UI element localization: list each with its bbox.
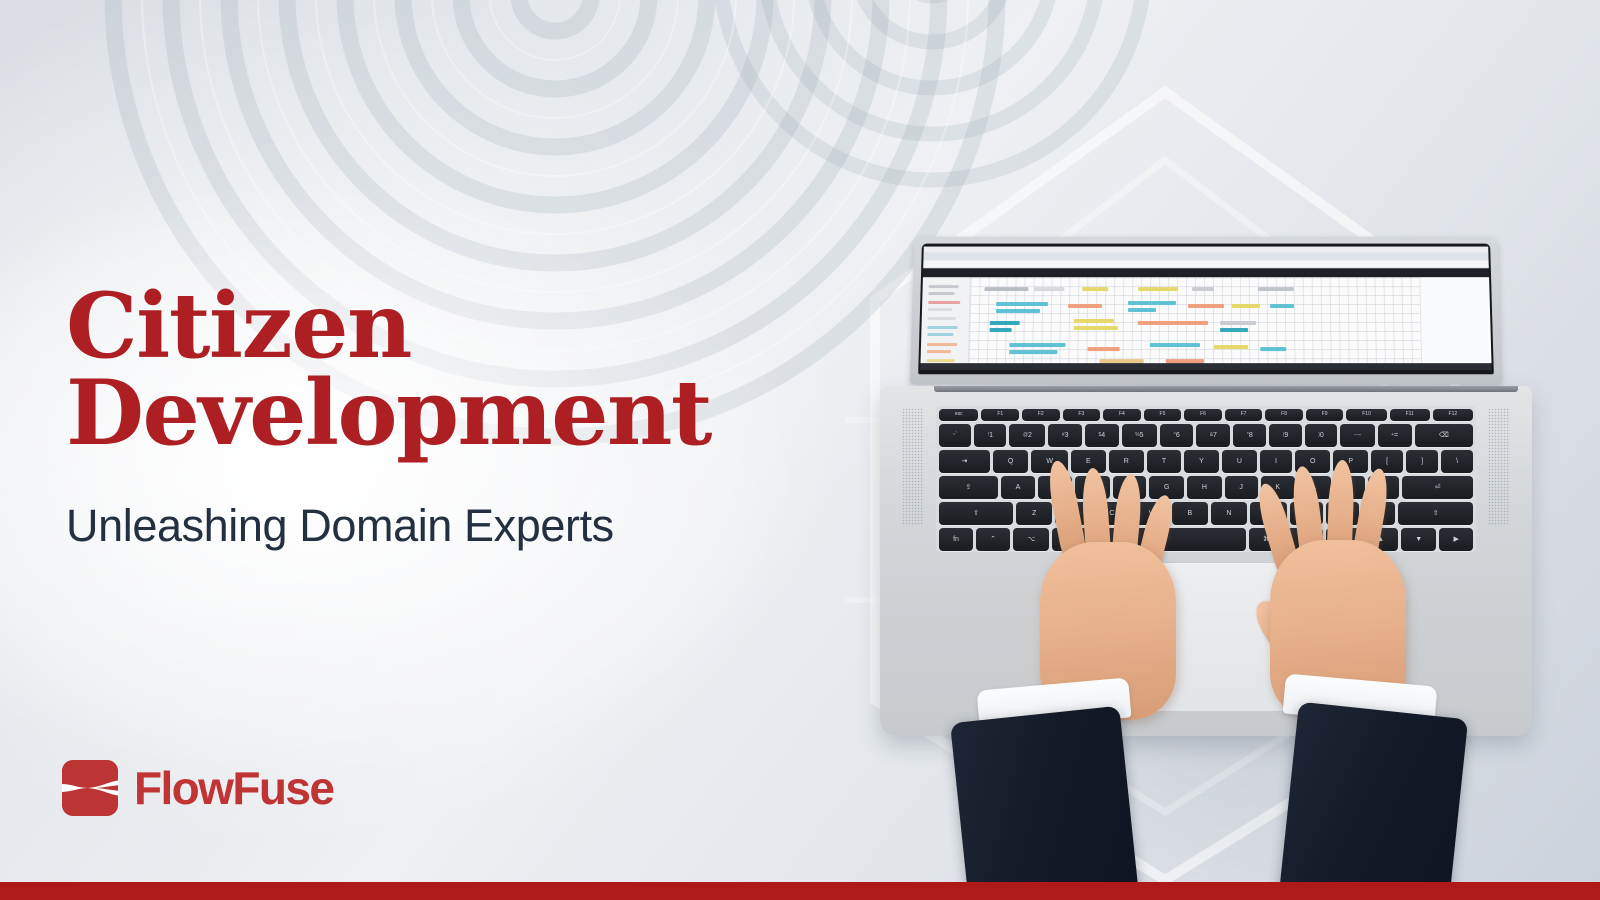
browser-tabbar bbox=[923, 253, 1488, 260]
palette-node[interactable] bbox=[927, 343, 957, 346]
palette-node[interactable] bbox=[928, 292, 954, 295]
flow-node[interactable] bbox=[1034, 287, 1064, 291]
palette-node[interactable] bbox=[928, 317, 956, 320]
flow-node[interactable] bbox=[1009, 343, 1065, 347]
browser-menubar bbox=[924, 247, 1489, 254]
info-sidebar bbox=[1419, 277, 1491, 363]
headline-line-2: Development bbox=[66, 370, 826, 457]
key-f6[interactable]: F6 bbox=[1184, 409, 1222, 421]
laptop-photo: escF1F2F3F4F5F6F7F8F9F10F11F12 ~`!1@2#3$… bbox=[860, 180, 1600, 740]
palette-node[interactable] bbox=[927, 333, 953, 336]
slide-canvas: Citizen Development Unleashing Domain Ex… bbox=[0, 0, 1600, 900]
key-8[interactable]: *8 bbox=[1233, 424, 1266, 447]
os-dock bbox=[920, 363, 1491, 370]
key-f9[interactable]: F9 bbox=[1306, 409, 1344, 421]
flow-node[interactable] bbox=[1128, 308, 1156, 312]
key-f8[interactable]: F8 bbox=[1265, 409, 1303, 421]
key-5[interactable]: %5 bbox=[1122, 424, 1157, 447]
keyboard-number-row[interactable]: ~`!1@2#3$4%5^6&7*8(9)0—-+=⌫ bbox=[939, 424, 1473, 447]
flowfuse-merge-icon bbox=[62, 760, 118, 816]
flowfuse-wordmark: FlowFuse bbox=[134, 761, 333, 815]
laptop-hinge bbox=[934, 386, 1518, 392]
browser-urlbar bbox=[923, 260, 1489, 268]
palette-node[interactable] bbox=[927, 359, 955, 362]
flow-node[interactable] bbox=[1270, 304, 1294, 308]
flowfuse-mark-icon bbox=[62, 760, 118, 816]
palette-node[interactable] bbox=[929, 285, 959, 288]
subtitle: Unleashing Domain Experts bbox=[66, 500, 826, 552]
key-[interactable]: ⌫ bbox=[1415, 424, 1473, 447]
flow-node[interactable] bbox=[1074, 319, 1114, 323]
flow-node[interactable] bbox=[1260, 347, 1286, 351]
screen-bezel bbox=[918, 244, 1494, 375]
flow-node[interactable] bbox=[1232, 304, 1260, 308]
key-6[interactable]: ^6 bbox=[1160, 424, 1193, 447]
flow-node[interactable] bbox=[1068, 304, 1102, 308]
suit-sleeve-left bbox=[950, 706, 1140, 900]
flow-node[interactable] bbox=[996, 302, 1048, 306]
speaker-grille-right bbox=[1488, 408, 1510, 526]
key-f1[interactable]: F1 bbox=[981, 409, 1019, 421]
flow-node[interactable] bbox=[996, 309, 1040, 313]
key-3[interactable]: #3 bbox=[1048, 424, 1082, 447]
key-f7[interactable]: F7 bbox=[1225, 409, 1263, 421]
key-[interactable]: —- bbox=[1340, 424, 1374, 447]
flow-node[interactable] bbox=[1074, 326, 1118, 330]
flow-node[interactable] bbox=[1082, 287, 1108, 291]
key-0[interactable]: )0 bbox=[1305, 424, 1338, 447]
palette-node[interactable] bbox=[928, 308, 952, 311]
key-2[interactable]: @2 bbox=[1009, 424, 1045, 447]
flow-node[interactable] bbox=[1138, 287, 1178, 291]
bottom-accent-bar bbox=[0, 882, 1600, 900]
flow-node[interactable] bbox=[1088, 347, 1120, 351]
headline-block: Citizen Development Unleashing Domain Ex… bbox=[66, 283, 826, 552]
key-f3[interactable]: F3 bbox=[1063, 409, 1101, 421]
key-esc[interactable]: esc bbox=[939, 409, 978, 421]
node-palette bbox=[920, 277, 970, 363]
key-fn[interactable]: fn bbox=[939, 528, 973, 551]
flow-node[interactable] bbox=[990, 328, 1012, 332]
key-f10[interactable]: F10 bbox=[1346, 409, 1386, 421]
flow-node[interactable] bbox=[1192, 287, 1214, 291]
key-[interactable]: += bbox=[1378, 424, 1412, 447]
key-4[interactable]: $4 bbox=[1085, 424, 1119, 447]
browser-bookmarks-bar bbox=[923, 268, 1489, 277]
flow-node[interactable] bbox=[1009, 350, 1057, 354]
flow-node[interactable] bbox=[990, 321, 1020, 325]
flow-node[interactable] bbox=[1150, 343, 1200, 347]
flow-node[interactable] bbox=[1138, 321, 1208, 325]
flow-canvas bbox=[969, 277, 1421, 363]
key-7[interactable]: &7 bbox=[1196, 424, 1230, 447]
flow-node[interactable] bbox=[1220, 321, 1256, 325]
key-[interactable]: ~` bbox=[939, 424, 971, 447]
flow-node[interactable] bbox=[984, 287, 1028, 291]
page-title: Citizen Development bbox=[66, 283, 826, 458]
keyboard-function-row[interactable]: escF1F2F3F4F5F6F7F8F9F10F11F12 bbox=[939, 409, 1473, 421]
key-9[interactable]: (9 bbox=[1269, 424, 1302, 447]
key-f4[interactable]: F4 bbox=[1103, 409, 1141, 421]
laptop-screen bbox=[920, 247, 1491, 371]
node-red-editor bbox=[920, 277, 1491, 363]
palette-node[interactable] bbox=[927, 350, 951, 353]
key-1[interactable]: !1 bbox=[974, 424, 1006, 447]
key-f12[interactable]: F12 bbox=[1433, 409, 1473, 421]
laptop-lid bbox=[910, 237, 1502, 385]
flowfuse-logo[interactable]: FlowFuse bbox=[62, 760, 333, 816]
flow-node[interactable] bbox=[1214, 345, 1248, 349]
flow-node[interactable] bbox=[1220, 328, 1248, 332]
flow-node[interactable] bbox=[1258, 287, 1294, 291]
flow-node[interactable] bbox=[1188, 304, 1224, 308]
palette-node[interactable] bbox=[928, 301, 960, 304]
palette-node[interactable] bbox=[927, 326, 957, 329]
suit-sleeve-right bbox=[1278, 702, 1468, 900]
key-f11[interactable]: F11 bbox=[1390, 409, 1430, 421]
key-f5[interactable]: F5 bbox=[1144, 409, 1182, 421]
key-f2[interactable]: F2 bbox=[1022, 409, 1060, 421]
speaker-grille-left bbox=[902, 408, 924, 526]
flow-node[interactable] bbox=[1128, 301, 1176, 305]
